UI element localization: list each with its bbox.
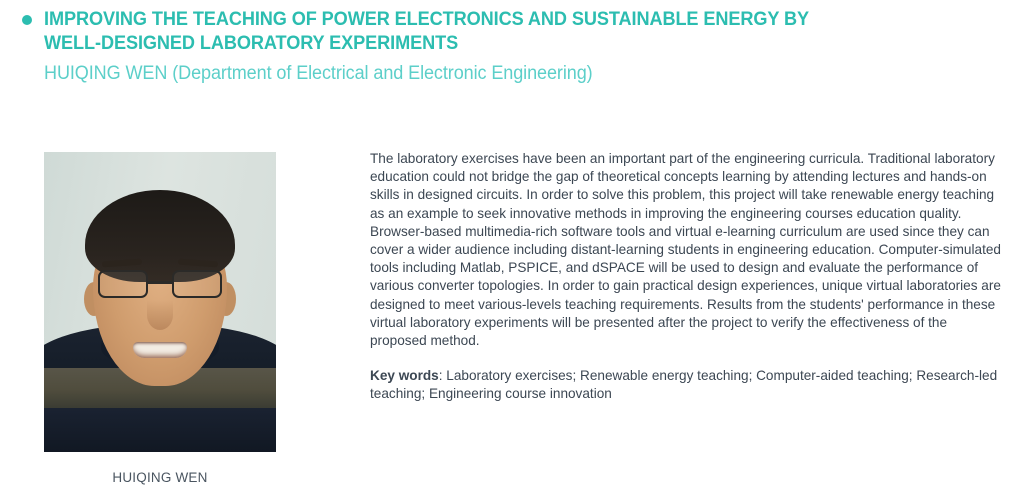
keywords-value: : Laboratory exercises; Renewable energy… [370, 368, 997, 401]
glasses-lens-right [172, 270, 222, 298]
nose-shape [147, 300, 173, 330]
portrait-photo-huiqing-wen [44, 152, 276, 452]
page-title: IMPROVING THE TEACHING OF POWER ELECTRON… [44, 7, 862, 55]
glasses-icon [98, 270, 222, 300]
author-affiliation-subtitle: HUIQING WEN (Department of Electrical an… [44, 62, 899, 86]
photo-caption: HUIQING WEN [44, 470, 276, 485]
glasses-bridge [148, 281, 172, 284]
portrait-figure: HUIQING WEN [44, 152, 276, 485]
keywords-line: Key words: Laboratory exercises; Renewab… [370, 367, 1002, 403]
mouth-shape [133, 342, 187, 358]
bullet-dot-icon [22, 15, 32, 25]
keywords-label: Key words [370, 368, 439, 383]
abstract-body: The laboratory exercises have been an im… [370, 150, 1002, 350]
glasses-lens-left [98, 270, 148, 298]
sweater-lower-stripe [44, 408, 276, 452]
abstract-section: The laboratory exercises have been an im… [370, 150, 1002, 404]
